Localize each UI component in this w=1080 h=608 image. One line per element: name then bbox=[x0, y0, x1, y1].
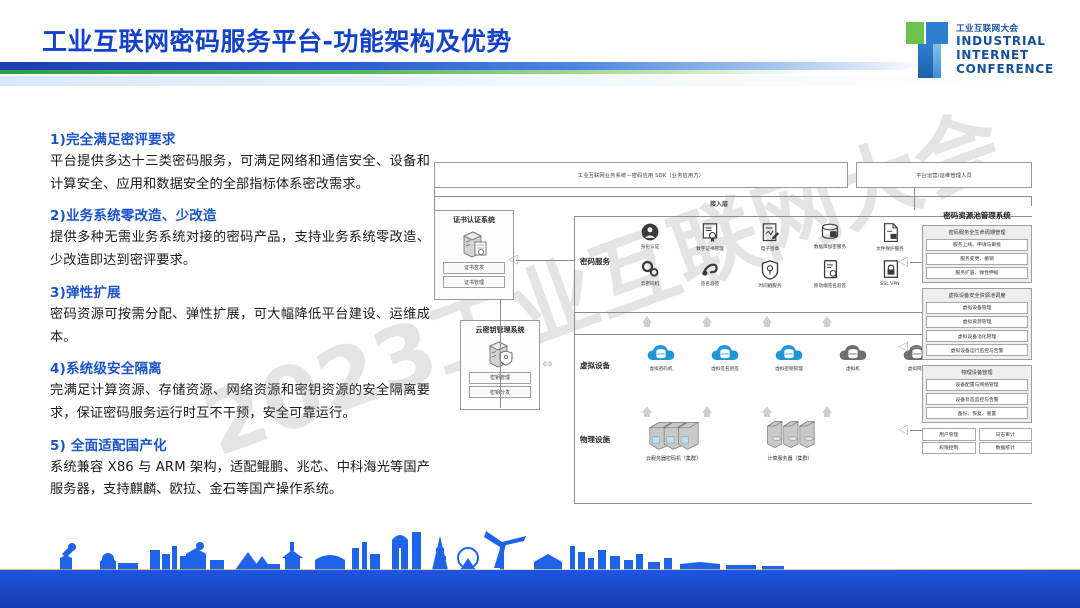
gears-icon bbox=[639, 259, 661, 279]
database-crypto-icon bbox=[819, 222, 841, 242]
advantage-heading-5: 5) 全面适配国产化 bbox=[50, 434, 430, 454]
arrow-ca-to-service bbox=[516, 260, 574, 261]
mgmt-smallbox-row-1: 用户管理 日志审计 bbox=[922, 428, 1032, 440]
up-chevron-icon bbox=[702, 316, 712, 323]
advantage-body-5: 系统兼容 X86 与 ARM 架构，适配鲲鹏、兆芯、中科海光等国产服务器，支持麒… bbox=[50, 457, 430, 502]
slide-root: 工业互联网密码服务平台-功能架构及优势 工业互联网大会 INDUSTRIAL I… bbox=[0, 0, 1080, 608]
service-cloud-hsm[interactable]: 云密码机 bbox=[622, 259, 678, 289]
up-chevron-icon bbox=[642, 316, 652, 323]
mgmt-group-title: 虚拟设备安全资源池调度 bbox=[926, 292, 1028, 299]
virtual-device-label: 虚拟密码机 bbox=[650, 366, 673, 372]
arrow-mgmt-physical bbox=[910, 430, 922, 431]
service-label: 签名验签 bbox=[701, 281, 719, 287]
identity-auth-icon bbox=[640, 222, 660, 242]
mgmt-group-title: 物理设备管理 bbox=[926, 369, 1028, 376]
service-label: 电子签章 bbox=[761, 246, 779, 252]
mgmt-item[interactable]: 备份、恢复、重置 bbox=[926, 407, 1028, 419]
mgmt-smallbox[interactable]: 权限控制 bbox=[922, 442, 976, 454]
connector-actor-ca bbox=[434, 188, 435, 210]
mgmt-item[interactable]: 服务扩容、弹性伸缩 bbox=[926, 267, 1028, 279]
mgmt-item[interactable]: 虚拟设备运行监控与告警 bbox=[926, 344, 1028, 356]
advantage-body-4: 完满足计算资源、存储资源、网络资源和密钥资源的安全隔离要求，保证密码服务运行时互… bbox=[50, 380, 430, 425]
advantage-body-1: 平台提供多达十三类密码服务，可满足网络和通信安全、设备和计算安全、应用和数据安全… bbox=[50, 151, 430, 196]
logo-en-3: CONFERENCE bbox=[956, 62, 1054, 76]
virtual-device-item[interactable]: 虚拟密钥管理 bbox=[758, 342, 820, 372]
physical-item[interactable]: 云服务器密码机（集群） bbox=[646, 417, 701, 462]
diagram-left-rule bbox=[574, 216, 575, 504]
service-identity-auth[interactable]: 身份认证 bbox=[622, 222, 678, 252]
mgmt-smallbox[interactable]: 用户管理 bbox=[922, 428, 976, 440]
server-cluster-icon bbox=[648, 417, 700, 453]
mgmt-item[interactable]: 设备配置与网络管理 bbox=[926, 379, 1028, 391]
mgmt-item[interactable]: 虚拟资源管理 bbox=[926, 316, 1028, 328]
service-label: 文件保护服务 bbox=[876, 246, 904, 252]
mgmt-title: 密码资源池管理系统 bbox=[922, 210, 1032, 221]
server-cluster-icon bbox=[764, 417, 816, 453]
ca-system-panel: 证书认证系统 证书签发 证书管理 bbox=[434, 210, 514, 300]
arrow-left-head-icon: ◁ bbox=[898, 255, 908, 268]
arrow-left-head-icon: ◁ bbox=[508, 253, 518, 266]
service-label: SSL VPN bbox=[880, 282, 899, 287]
logo-cn: 工业互联网大会 bbox=[956, 24, 1054, 34]
arrow-kms-bidir-icon: ⇔ bbox=[542, 358, 553, 371]
virtual-device-item[interactable]: 虚拟机 bbox=[822, 342, 884, 372]
service-label: 数据库加密服务 bbox=[814, 244, 846, 250]
header-bar-green bbox=[0, 70, 820, 74]
ssl-vpn-icon bbox=[881, 259, 900, 280]
cloud-db-icon bbox=[838, 342, 868, 364]
service-label: 移动端签名验签 bbox=[814, 283, 846, 289]
physical-item[interactable]: 计算服务器（集群） bbox=[764, 417, 816, 462]
actor-business-system: 工业互联网业务系统－密码应用 SDK（业务应用方） bbox=[434, 162, 848, 188]
physical-label: 云服务器密码机（集群） bbox=[646, 455, 701, 462]
page-title: 工业互联网密码服务平台-功能架构及优势 bbox=[42, 22, 512, 58]
up-chevron-icon bbox=[762, 316, 772, 323]
connector-ca-kms bbox=[500, 300, 501, 408]
up-chevron-icon bbox=[822, 316, 832, 323]
up-chevron-icon bbox=[702, 406, 712, 413]
footer-banner bbox=[0, 530, 1080, 608]
cloud-db-icon bbox=[774, 342, 804, 364]
cloud-db-icon bbox=[710, 342, 740, 364]
ca-item-2[interactable]: 证书管理 bbox=[443, 276, 505, 288]
virtual-device-label: 虚拟签名验签 bbox=[711, 366, 739, 372]
mgmt-smallbox[interactable]: 数据统计 bbox=[979, 442, 1033, 454]
arrow-mgmt-service bbox=[910, 262, 922, 263]
certificate-icon bbox=[700, 222, 720, 244]
city-skyline-icon bbox=[0, 528, 1080, 572]
architecture-diagram: 工业互联网业务系统－密码应用 SDK（业务应用方） 平台运营/运维管理人员 接入… bbox=[434, 162, 1032, 507]
service-ssl-vpn[interactable]: SSL VPN bbox=[862, 259, 918, 289]
advantages-list: 1)完全满足密评要求 平台提供多达十三类密码服务，可满足网络和通信安全、设备和计… bbox=[50, 128, 430, 502]
up-chevron-icon bbox=[762, 406, 772, 413]
mgmt-group-title: 密码服务全生命周期管理 bbox=[926, 229, 1028, 236]
service-timestamp[interactable]: 时间戳服务 bbox=[742, 259, 798, 289]
service-database-crypto[interactable]: 数据库加密服务 bbox=[802, 222, 858, 252]
service-file-protect[interactable]: 文件保护服务 bbox=[862, 222, 918, 252]
mgmt-group-physical: 物理设备管理 设备配置与网络管理 设备状态监控与告警 备份、恢复、重置 bbox=[922, 365, 1032, 423]
virtual-device-label: 虚拟机 bbox=[846, 366, 860, 372]
e-signature-icon bbox=[760, 222, 780, 244]
service-label: 云密码机 bbox=[641, 281, 659, 287]
timestamp-icon bbox=[760, 259, 780, 281]
mgmt-item[interactable]: 设备状态监控与告警 bbox=[926, 393, 1028, 405]
service-sign-verify[interactable]: 签名验签 bbox=[682, 259, 738, 289]
footer-water-band bbox=[0, 570, 1080, 608]
service-label: 时间戳服务 bbox=[759, 283, 782, 289]
tier-label-crypto-service: 密码服务 bbox=[580, 256, 610, 267]
mgmt-group-lifecycle: 密码服务全生命周期管理 服务上线、申请与审批 服务变更、撤销 服务扩容、弹性伸缩 bbox=[922, 225, 1032, 283]
mgmt-item[interactable]: 服务上线、申请与审批 bbox=[926, 239, 1028, 251]
access-layer-label: 接入层 bbox=[710, 199, 728, 208]
sign-verify-icon bbox=[699, 259, 721, 279]
up-chevron-icon bbox=[642, 406, 652, 413]
arrow-mgmt-virtual bbox=[910, 347, 922, 348]
advantage-body-2: 提供多种无需业务系统对接的密码产品，支持业务系统零改造、少改造即达到密评要求。 bbox=[50, 227, 430, 272]
ca-system-title: 证书认证系统 bbox=[435, 211, 513, 225]
logo-text: 工业互联网大会 INDUSTRIAL INTERNET CONFERENCE bbox=[956, 24, 1054, 76]
logo-en-2: INTERNET bbox=[956, 48, 1054, 62]
up-chevron-icon bbox=[822, 406, 832, 413]
tier-label-virtual-device: 虚拟设备 bbox=[580, 360, 610, 371]
advantage-body-3: 密码资源可按需分配、弹性扩展，可大幅降低平台建设、运维成本。 bbox=[50, 304, 430, 349]
access-rule-tick-r bbox=[1031, 196, 1032, 206]
advantage-heading-4: 4)系统级安全隔离 bbox=[50, 357, 430, 377]
service-label: 身份认证 bbox=[641, 244, 659, 250]
service-mobile-auth[interactable]: 移动端签名验签 bbox=[802, 259, 858, 289]
virtual-device-item[interactable]: 虚拟密码机 bbox=[630, 342, 692, 372]
logo-mark-icon bbox=[906, 22, 948, 78]
physical-label: 计算服务器（集群） bbox=[767, 455, 812, 462]
mgmt-group-virtual-pool: 虚拟设备安全资源池调度 虚拟设备管理 虚拟资源管理 虚拟设备池化管理 虚拟设备运… bbox=[922, 288, 1032, 360]
mobile-auth-icon bbox=[821, 259, 840, 281]
access-layer-top-rule bbox=[434, 196, 1032, 197]
mgmt-smallbox[interactable]: 日志审计 bbox=[979, 428, 1033, 440]
header-bar-blue bbox=[0, 62, 930, 70]
file-protect-icon bbox=[881, 222, 900, 244]
ca-item-1[interactable]: 证书签发 bbox=[443, 262, 505, 274]
service-certificate[interactable]: 数字证书管理 bbox=[682, 222, 738, 252]
arrow-left-head-icon: ◁ bbox=[898, 423, 908, 436]
conference-logo: 工业互联网大会 INDUSTRIAL INTERNET CONFERENCE bbox=[906, 22, 1054, 78]
service-label: 数字证书管理 bbox=[696, 246, 724, 252]
diagram-bottom-rule bbox=[574, 503, 1032, 504]
logo-en-1: INDUSTRIAL bbox=[956, 34, 1054, 48]
advantage-heading-3: 3)弹性扩展 bbox=[50, 281, 430, 301]
actor-platform-operator: 平台运营/运维管理人员 bbox=[856, 162, 1032, 188]
server-certificate-icon bbox=[460, 229, 488, 259]
mgmt-item[interactable]: 虚拟设备池化管理 bbox=[926, 330, 1028, 342]
mgmt-item[interactable]: 虚拟设备管理 bbox=[926, 302, 1028, 314]
mgmt-item[interactable]: 服务变更、撤销 bbox=[926, 253, 1028, 265]
virtual-device-label: 虚拟密钥管理 bbox=[775, 366, 803, 372]
connector-operator-mgmt bbox=[914, 188, 915, 210]
advantage-heading-1: 1)完全满足密评要求 bbox=[50, 128, 430, 148]
advantage-heading-2: 2)业务系统零改造、少改造 bbox=[50, 204, 430, 224]
cloud-db-icon bbox=[646, 342, 676, 364]
mgmt-panel: 密码资源池管理系统 密码服务全生命周期管理 服务上线、申请与审批 服务变更、撤销… bbox=[922, 210, 1032, 454]
virtual-device-item[interactable]: 虚拟签名验签 bbox=[694, 342, 756, 372]
tier-label-physical: 物理设施 bbox=[580, 434, 610, 445]
arrow-left-head-icon: ◁ bbox=[898, 340, 908, 353]
service-icon-grid: 身份认证 数字证书管理 电子签章 bbox=[622, 222, 918, 289]
service-e-signature[interactable]: 电子签章 bbox=[742, 222, 798, 252]
mgmt-smallbox-row-2: 权限控制 数据统计 bbox=[922, 442, 1032, 454]
